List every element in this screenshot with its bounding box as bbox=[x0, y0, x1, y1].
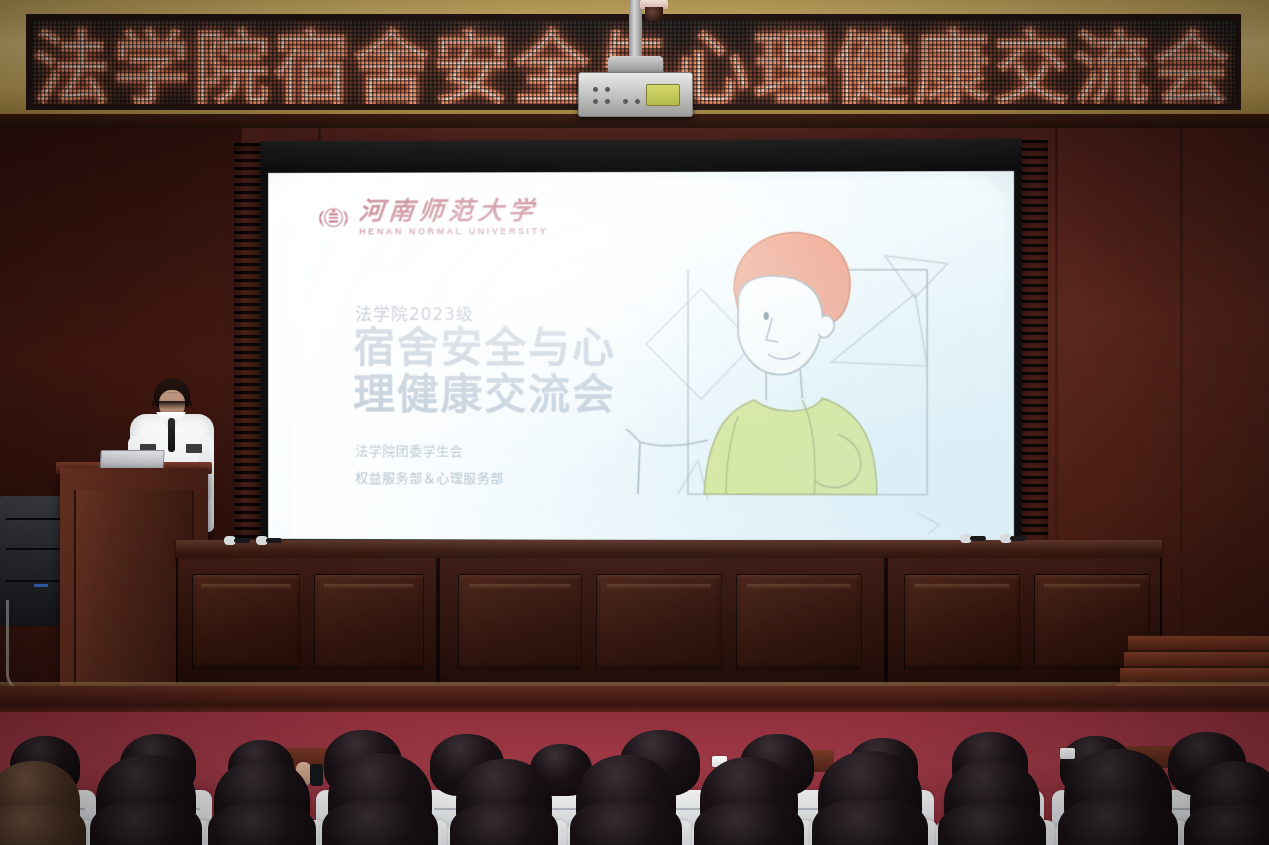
logo-chinese-name: 河南师范大学 bbox=[358, 198, 550, 223]
audience-person-head bbox=[700, 757, 798, 845]
lecture-hall-photo: 法学院宿舍安全与心理健康交流会 LED P10 SCREEN bbox=[0, 0, 1269, 845]
presentation-slide: 河南师范大学 HENAN NORMAL UNIVERSITY bbox=[268, 171, 1014, 541]
projector-display-icon bbox=[646, 84, 680, 106]
slide-illustration bbox=[626, 193, 998, 535]
audience-person-head bbox=[96, 755, 196, 845]
slide-byline-line2: 权益服务部＆心理服务部 bbox=[355, 466, 504, 493]
projection-screen: 河南师范大学 HENAN NORMAL UNIVERSITY bbox=[260, 139, 1022, 549]
slide-title-line1: 宿舍安全与心 bbox=[353, 324, 616, 371]
table-microphone-icon bbox=[1000, 534, 1026, 544]
audience-person-head bbox=[214, 759, 310, 845]
audience-person-head bbox=[818, 751, 922, 845]
hair-clip bbox=[1060, 748, 1075, 759]
slide-byline: 法学院团委学生会 权益服务部＆心理服务部 bbox=[355, 440, 504, 493]
table-microphone-icon bbox=[960, 534, 986, 544]
av-cable bbox=[6, 600, 42, 692]
table-microphone-icon bbox=[224, 536, 250, 546]
audience-person-head bbox=[1190, 761, 1269, 845]
audience-person-head bbox=[944, 759, 1040, 845]
screen-top-bar bbox=[260, 139, 1022, 173]
audience-person-head bbox=[456, 759, 552, 845]
slide-kicker: 法学院2023级 bbox=[355, 300, 473, 325]
slide-title-line2: 理健康交流会 bbox=[353, 371, 616, 418]
phone-icon bbox=[310, 764, 323, 786]
university-logo: 河南师范大学 HENAN NORMAL UNIVERSITY bbox=[316, 198, 549, 236]
handheld-microphone-icon bbox=[168, 418, 175, 452]
audience-person-head bbox=[328, 753, 432, 845]
audience-person-head bbox=[1064, 749, 1172, 845]
audience-person-head bbox=[0, 761, 80, 845]
dome-camera-icon bbox=[640, 0, 668, 26]
stage-table-front bbox=[176, 558, 1162, 690]
slide-byline-line1: 法学院团委学生会 bbox=[355, 440, 504, 467]
audience-person-head bbox=[576, 755, 676, 845]
slide-title: 宿舍安全与心 理健康交流会 bbox=[353, 324, 616, 418]
ceiling-projector bbox=[578, 72, 693, 117]
table-microphone-icon bbox=[256, 536, 282, 546]
university-crest-icon bbox=[316, 200, 352, 236]
led-panel-tag: LED P10 SCREEN bbox=[1169, 96, 1227, 102]
logo-english-name: HENAN NORMAL UNIVERSITY bbox=[359, 227, 548, 236]
